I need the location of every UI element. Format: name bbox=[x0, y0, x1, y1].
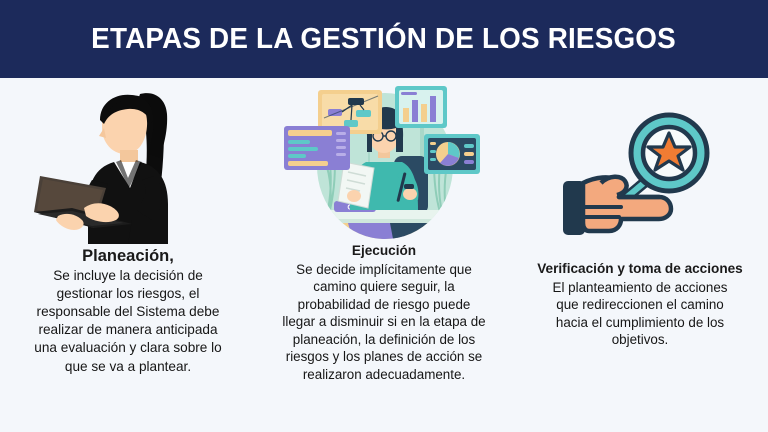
body-line: una evaluación y clara sobre lo bbox=[6, 339, 250, 357]
body-line: planeación, la definición de los bbox=[262, 331, 506, 349]
heading-line: Verificación y toma de bbox=[537, 261, 681, 276]
stage-body-verificacion: El planteamiento de acciones que redirec… bbox=[518, 279, 762, 349]
body-line: El planteamiento de acciones bbox=[518, 279, 762, 297]
infographic-poster: ETAPAS DE LA GESTIÓN DE LOS RIESGOS bbox=[0, 0, 768, 432]
stage-text-planeacion: Planeación, Se incluye la decisión de ge… bbox=[6, 243, 250, 376]
illustration-businesswoman-with-laptop bbox=[6, 78, 250, 243]
body-line: Se incluye la decisión de bbox=[6, 267, 250, 285]
ceo-at-desk-with-charts-icon: CEO bbox=[282, 84, 487, 244]
body-line: objetivos. bbox=[518, 331, 762, 349]
stage-column-verificacion: Verificación y toma de acciones El plant… bbox=[512, 78, 768, 432]
illustration-hand-magnifier bbox=[518, 78, 762, 243]
businesswoman-with-laptop-icon bbox=[28, 84, 228, 244]
stage-column-planeacion: Planeación, Se incluye la decisión de ge… bbox=[0, 78, 256, 432]
body-line: llegar a disminuir si en la etapa de bbox=[262, 313, 506, 331]
stage-text-verificacion: Verificación y toma de acciones El plant… bbox=[518, 243, 762, 349]
stage-text-ejecucion: Ejecución Se decide implícitamente que c… bbox=[262, 243, 506, 383]
stages-row: Planeación, Se incluye la decisión de ge… bbox=[0, 78, 768, 432]
stage-heading-verificacion: Verificación y toma de acciones bbox=[518, 261, 762, 278]
body-line: responsable del Sistema debe bbox=[6, 303, 250, 321]
body-line: Se decide implícitamente que bbox=[262, 261, 506, 279]
body-line: realizar de manera anticipada bbox=[6, 321, 250, 339]
stage-body-ejecucion: Se decide implícitamente que camino quie… bbox=[262, 261, 506, 384]
body-line: gestionar los riesgos, el bbox=[6, 285, 250, 303]
header-banner: ETAPAS DE LA GESTIÓN DE LOS RIESGOS bbox=[0, 0, 768, 78]
hand-with-magnifier-star-icon bbox=[555, 89, 725, 239]
body-line: camino quiere seguir, la bbox=[262, 278, 506, 296]
body-line: realizaron adecuadamente. bbox=[262, 366, 506, 384]
illustration-ceo-at-desk: CEO bbox=[262, 78, 506, 243]
body-line: que se va a plantear. bbox=[6, 358, 250, 376]
stage-body-planeacion: Se incluye la decisión de gestionar los … bbox=[6, 267, 250, 375]
panel-pie-chart bbox=[424, 134, 480, 174]
panel-text-list bbox=[284, 126, 350, 170]
panel-bar-chart bbox=[395, 86, 447, 128]
stage-column-ejecucion: CEO bbox=[256, 78, 512, 432]
stage-heading-planeacion: Planeación, bbox=[6, 246, 250, 266]
page-title: ETAPAS DE LA GESTIÓN DE LOS RIESGOS bbox=[92, 23, 677, 56]
body-line: probabilidad de riesgo puede bbox=[262, 296, 506, 314]
stage-heading-ejecucion: Ejecución bbox=[262, 243, 506, 260]
body-line: riesgos y los planes de acción se bbox=[262, 348, 506, 366]
heading-line: acciones bbox=[685, 261, 743, 276]
body-line: hacia el cumplimiento de los bbox=[518, 314, 762, 332]
body-line: que redireccionen el camino bbox=[518, 296, 762, 314]
